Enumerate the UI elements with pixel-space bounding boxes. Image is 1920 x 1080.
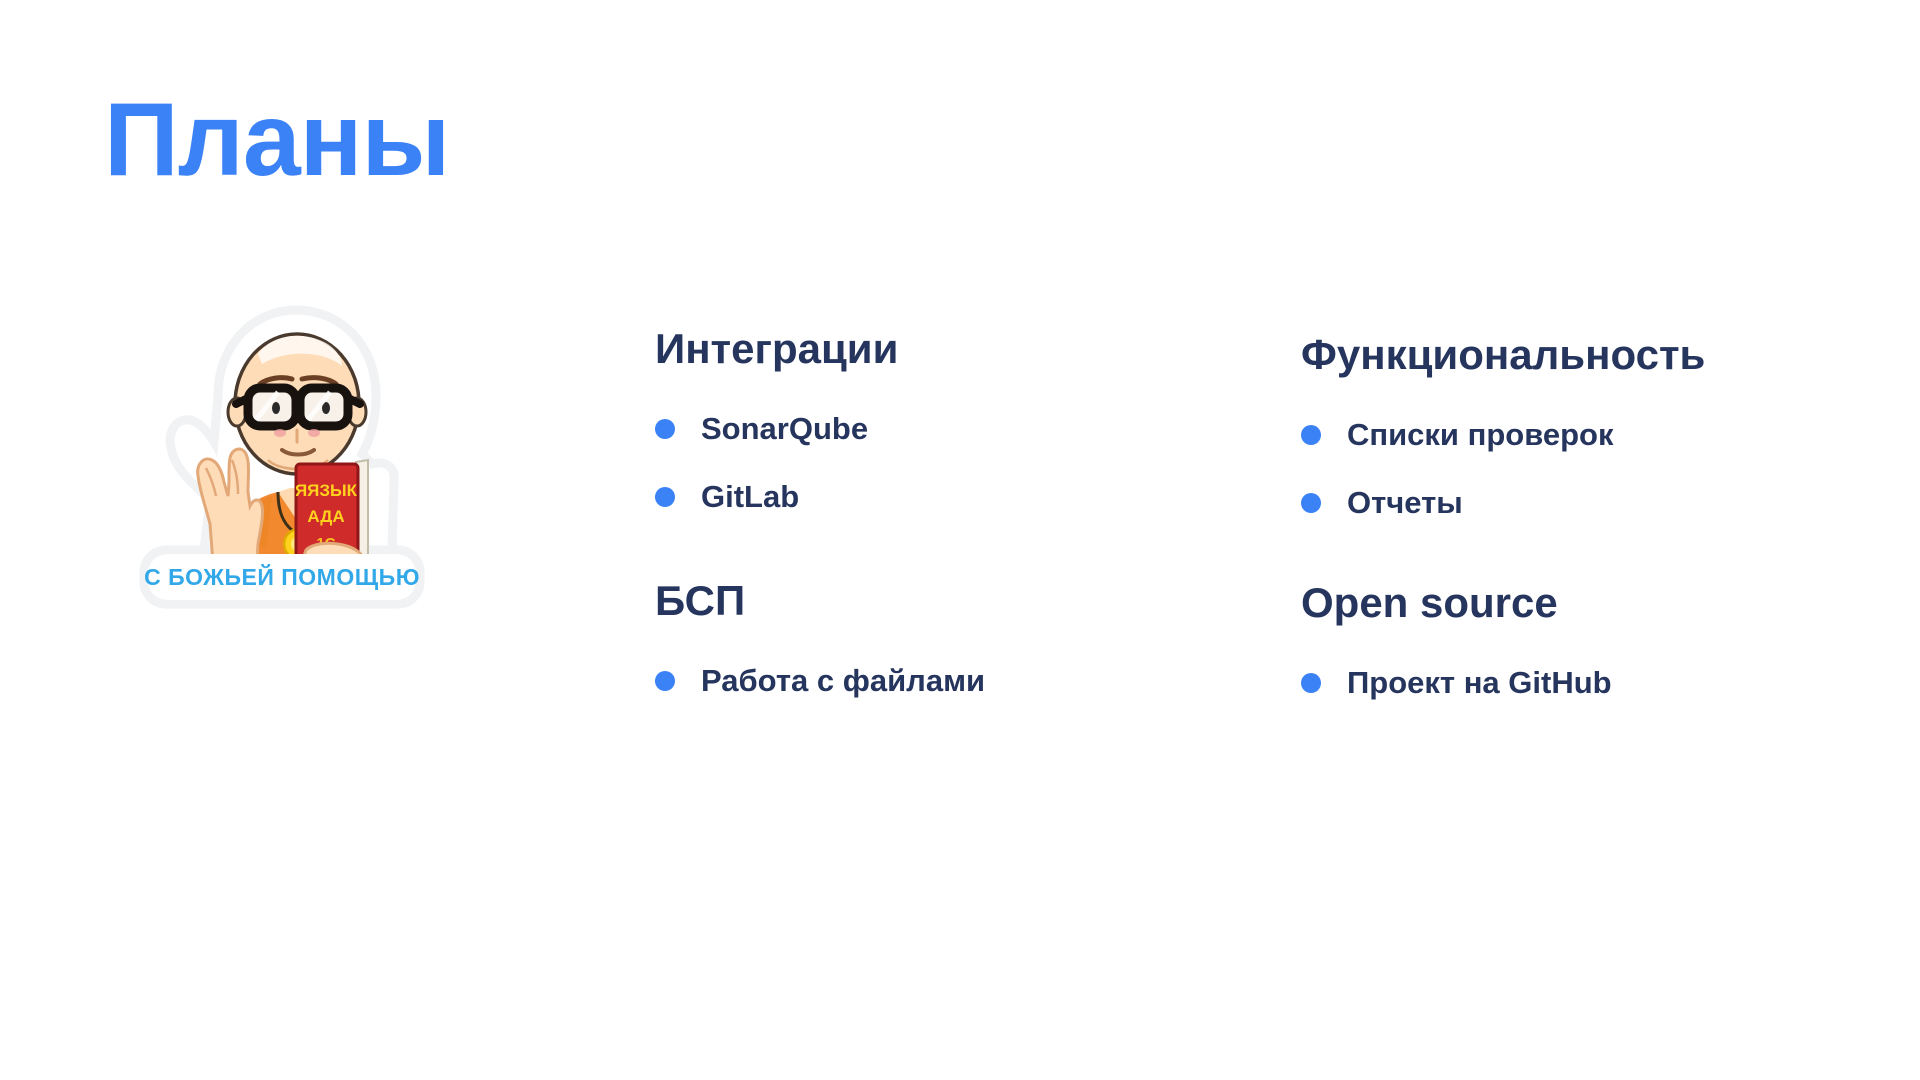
group-functionality: Функциональность Списки проверок Отчеты [1301, 331, 1835, 537]
group-title: Функциональность [1301, 331, 1835, 379]
group-title: БСП [655, 577, 1189, 625]
svg-text:АДА: АДА [307, 507, 344, 526]
list-item[interactable]: Проект на GitHub [1301, 649, 1835, 717]
bullet-list: SonarQube GitLab [655, 395, 1189, 531]
right-column: Функциональность Списки проверок Отчеты … [1301, 331, 1835, 717]
list-item[interactable]: GitLab [655, 463, 1189, 531]
group-bsp: БСП Работа с файлами [655, 577, 1189, 715]
group-title: Open source [1301, 579, 1835, 627]
list-item[interactable]: Работа с файлами [655, 647, 1189, 715]
content-columns: Интеграции SonarQube GitLab БСП [655, 325, 1835, 717]
bullet-dot-icon [1301, 425, 1321, 445]
list-item-label: Отчеты [1347, 484, 1463, 521]
bullet-dot-icon [655, 419, 675, 439]
glasses-icon [236, 388, 360, 426]
page-title: Планы [104, 88, 449, 192]
list-item[interactable]: Списки проверок [1301, 401, 1835, 469]
sticker-caption-banner: С БОЖЬЕЙ ПОМОЩЬЮ [144, 554, 420, 600]
list-item[interactable]: Отчеты [1301, 469, 1835, 537]
list-item[interactable]: SonarQube [655, 395, 1189, 463]
svg-text:С БОЖЬЕЙ ПОМОЩЬЮ: С БОЖЬЕЙ ПОМОЩЬЮ [144, 563, 420, 590]
slide-root: Планы [0, 0, 1920, 1080]
bullet-dot-icon [655, 487, 675, 507]
group-integrations: Интеграции SonarQube GitLab [655, 325, 1189, 531]
bullet-dot-icon [655, 671, 675, 691]
bullet-dot-icon [1301, 493, 1321, 513]
list-item-label: Работа с файлами [701, 662, 985, 699]
bullet-list: Списки проверок Отчеты [1301, 401, 1835, 537]
left-column: Интеграции SonarQube GitLab БСП [655, 325, 1189, 717]
bullet-dot-icon [1301, 673, 1321, 693]
list-item-label: GitLab [701, 478, 799, 515]
group-title: Интеграции [655, 325, 1189, 373]
svg-text:ЯЯЗЫК: ЯЯЗЫК [295, 481, 358, 500]
list-item-label: SonarQube [701, 410, 868, 447]
monk-sticker-illustration: ЯЯЗЫК АДА 1С С БОЖЬЕЙ ПОМОЩЬЮ [110, 300, 460, 660]
list-item-label: Проект на GitHub [1347, 664, 1612, 701]
bullet-list: Проект на GitHub [1301, 649, 1835, 717]
bullet-list: Работа с файлами [655, 647, 1189, 715]
list-item-label: Списки проверок [1347, 416, 1613, 453]
group-open-source: Open source Проект на GitHub [1301, 579, 1835, 717]
